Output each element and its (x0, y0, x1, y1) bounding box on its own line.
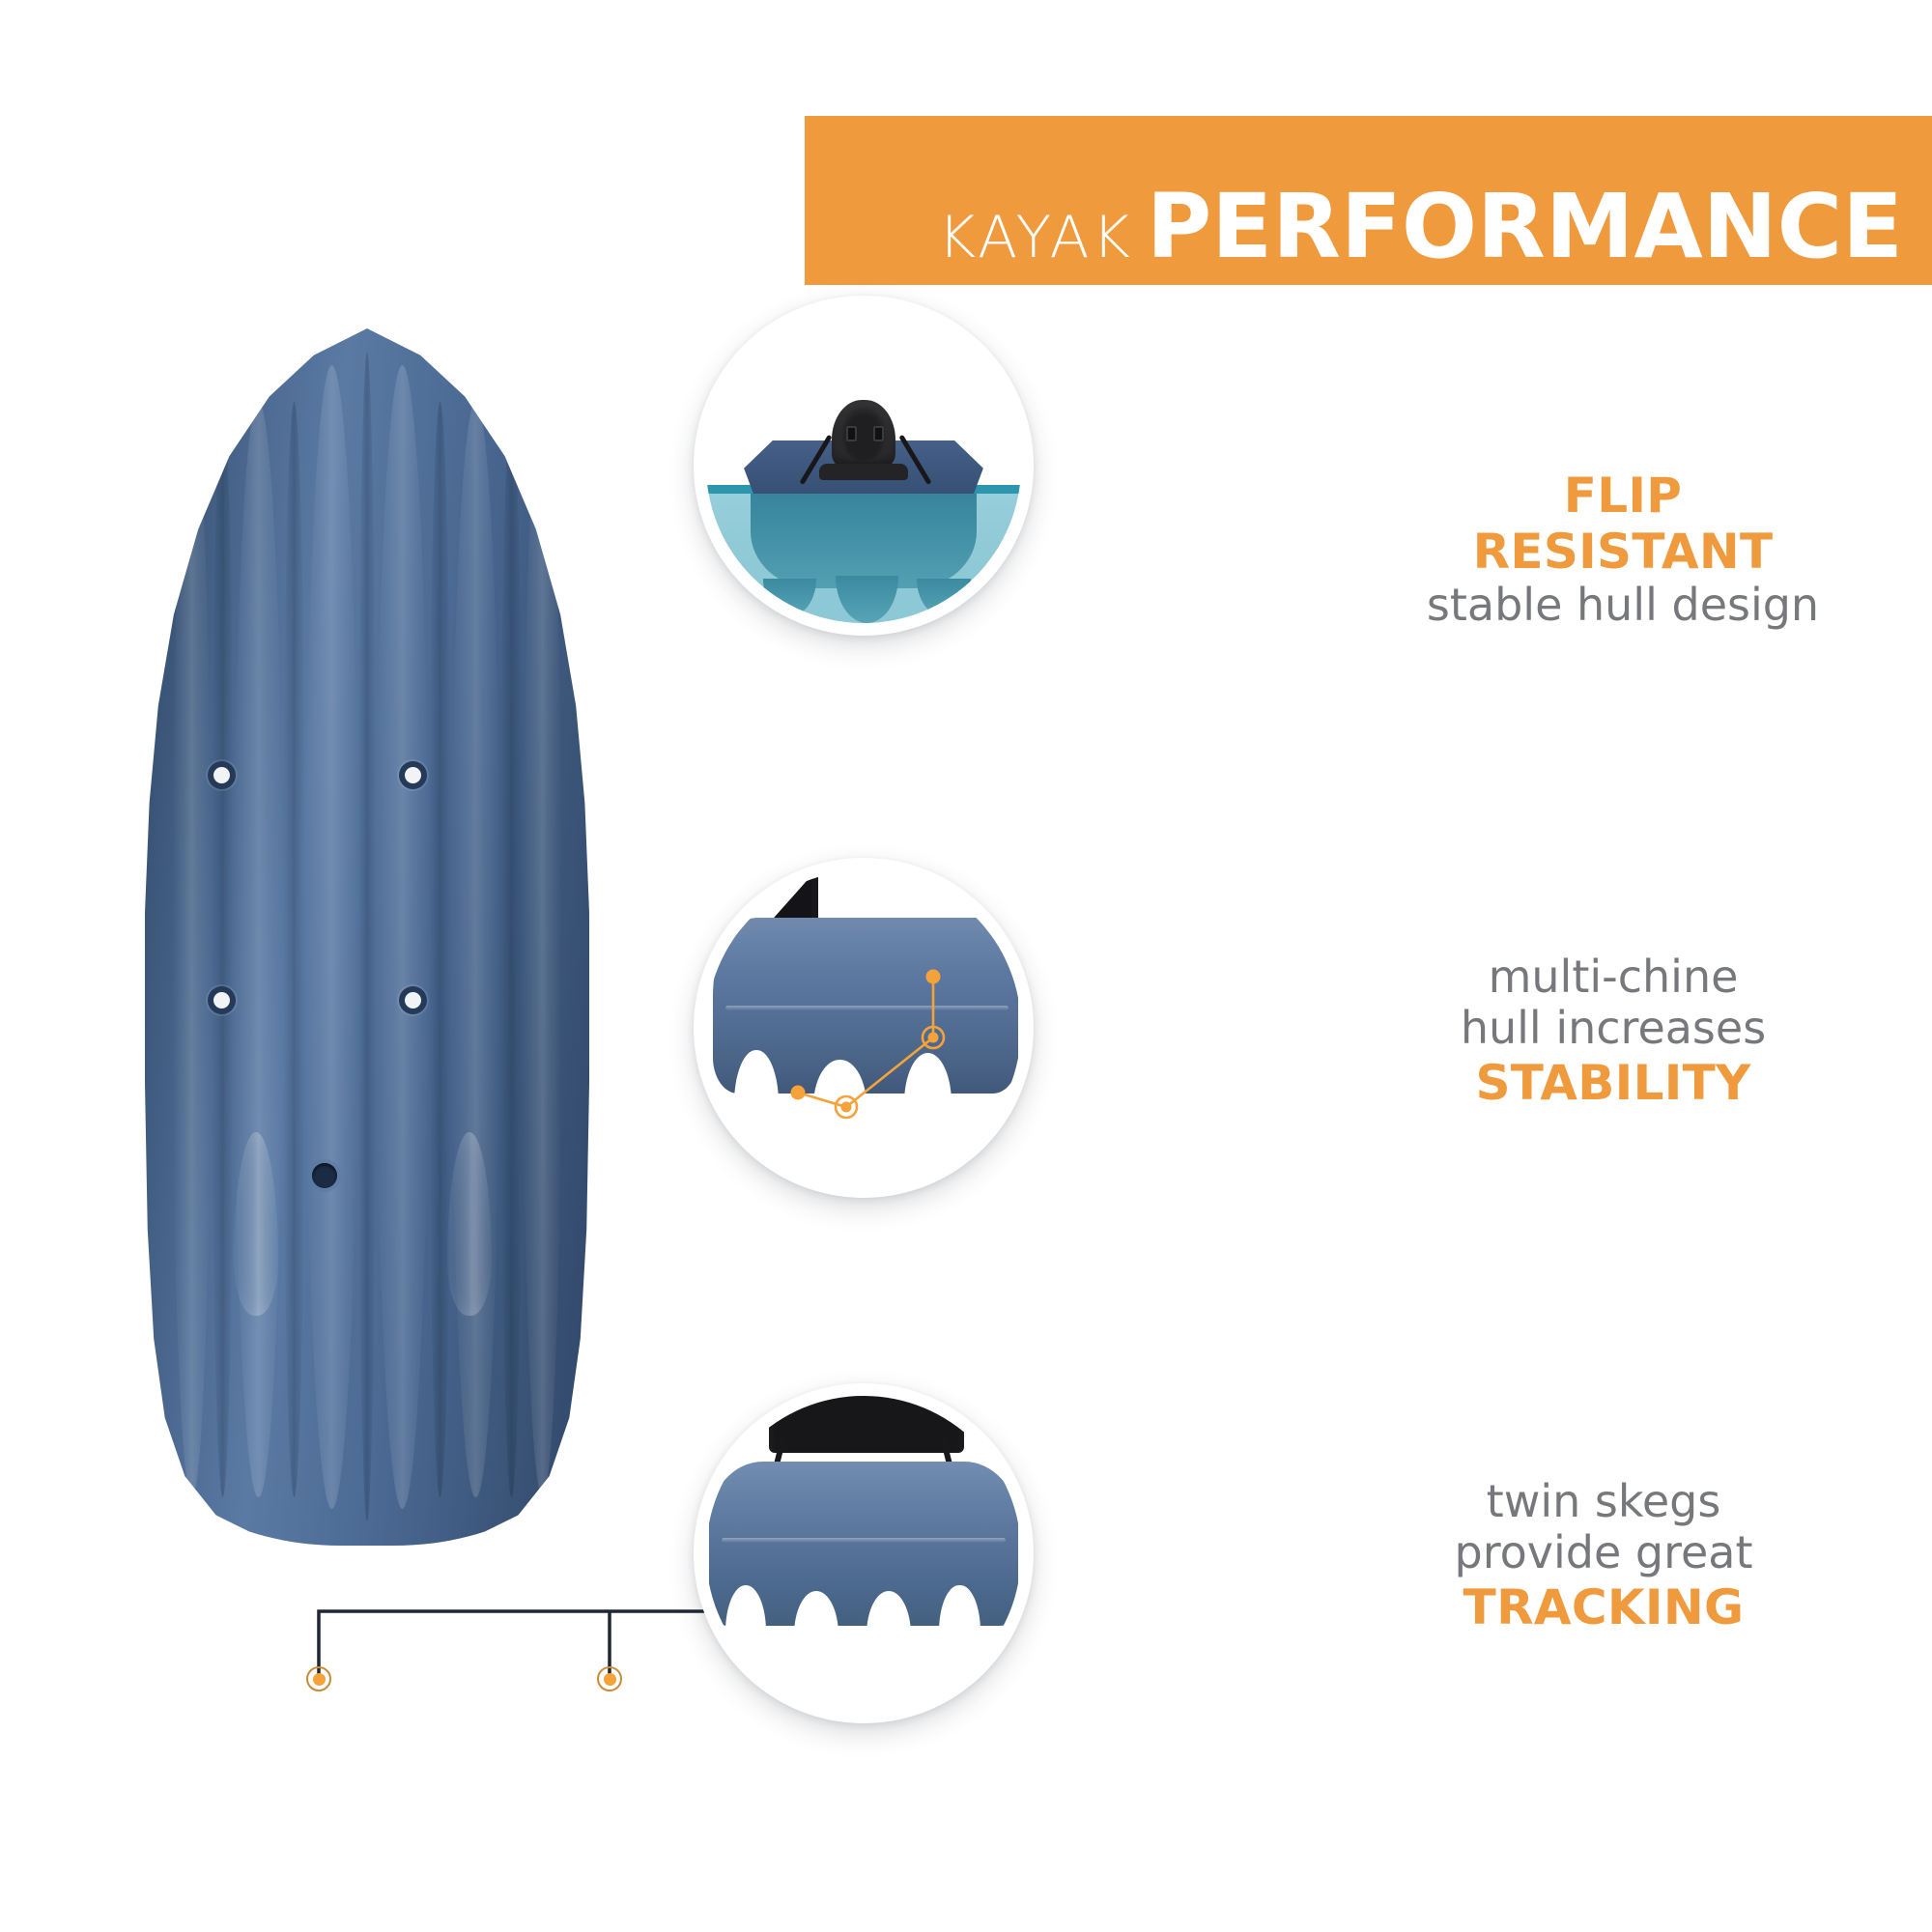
deck-black-top (769, 1396, 964, 1453)
scupper-hole-2 (405, 767, 421, 783)
flip-resistant-photo (706, 308, 1021, 623)
drain-plug (312, 1163, 337, 1188)
skeg-ridge-right (447, 1132, 492, 1316)
flip-resistant-line-3: stable hull design (1372, 580, 1874, 631)
tracking-line-3: TRACKING (1333, 1579, 1874, 1635)
stability-line-2: hull increases (1352, 1003, 1874, 1054)
hull-rear-bottom-mask (706, 1629, 1021, 1711)
skeg-marker-right (597, 1666, 622, 1691)
flip-resistant-line-1: FLIP (1372, 468, 1874, 524)
hull-rear-chine-line (722, 1538, 1005, 1543)
stability-line-1: multi-chine (1352, 952, 1874, 1003)
skeg-ridge-left (234, 1132, 278, 1316)
seat-clip-left (846, 426, 857, 441)
feature-text-stability: multi-chine hull increases STABILITY (1352, 952, 1874, 1111)
kayak-hull-ribs (145, 328, 589, 1546)
page-title-light: KAYAK (938, 204, 1133, 271)
tracking-photo (706, 1396, 1021, 1711)
multi-chine-marker-diagram (706, 870, 1021, 1185)
page-title-bold: PERFORMANCE (1147, 175, 1903, 278)
tracking-line-1: twin skegs (1333, 1476, 1874, 1527)
kayak-product-image (145, 328, 589, 1546)
scupper-hole-1 (213, 767, 230, 783)
seat-clip-right (873, 426, 884, 441)
feature-circle-tracking (694, 1383, 1034, 1723)
kayak-hull (145, 328, 589, 1546)
stability-line-3: STABILITY (1352, 1055, 1874, 1111)
feature-text-tracking: twin skegs provide great TRACKING (1333, 1476, 1874, 1635)
feature-circle-stability (694, 858, 1034, 1198)
tracking-line-2: provide great (1333, 1527, 1874, 1578)
seat-base (819, 464, 907, 479)
feature-text-flip-resistant: FLIP RESISTANT stable hull design (1372, 468, 1874, 631)
scupper-hole-4 (405, 992, 421, 1009)
feature-circle-flip-resistant (694, 296, 1034, 636)
flip-resistant-line-2: RESISTANT (1372, 524, 1874, 580)
stability-photo (706, 870, 1021, 1185)
header-banner: KAYAKPERFORMANCE (805, 116, 1932, 285)
hull-submerged (751, 494, 978, 588)
scupper-hole-3 (213, 992, 230, 1009)
page-title: KAYAKPERFORMANCE (938, 183, 1903, 271)
skeg-marker-left (306, 1666, 331, 1691)
infographic-canvas: KAYAKPERFORMANCE (0, 0, 1932, 1932)
